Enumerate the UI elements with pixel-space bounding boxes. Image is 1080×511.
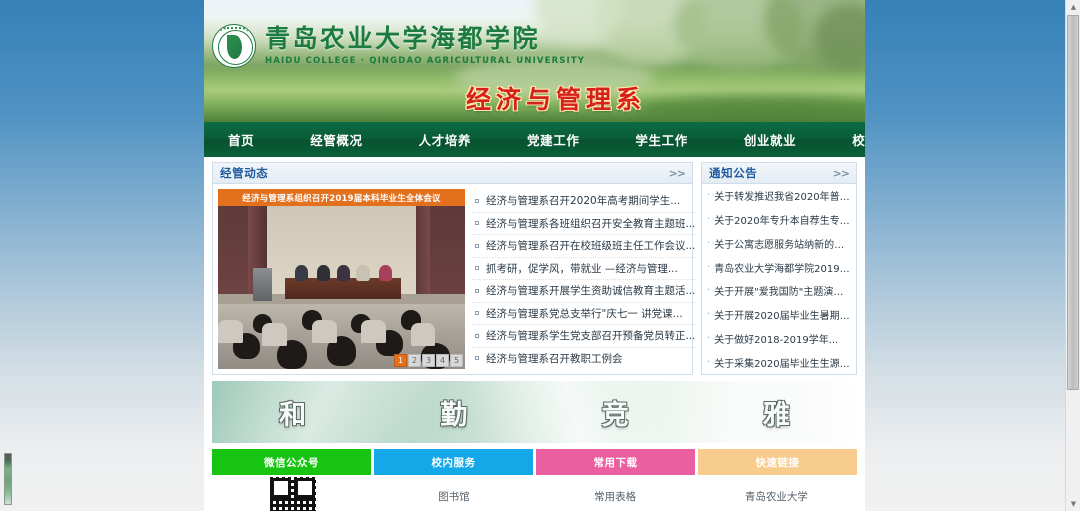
news-panel: 经管动态 >> 经济与管理系组织召开2019届本科毕业生全体会议	[212, 162, 693, 375]
notice-list-item[interactable]: · 关于开展2020届毕业生暑期留...	[707, 303, 851, 327]
notice-list-item[interactable]: · 关于2020年专升本自荐生专业...	[707, 208, 851, 232]
qr-code-cell	[212, 475, 373, 511]
news-item-title: 经济与管理系党总支举行"庆七一 讲党课...	[486, 306, 683, 321]
news-panel-body: 经济与管理系组织召开2019届本科毕业生全体会议	[213, 184, 692, 374]
dot-icon: ·	[707, 262, 710, 273]
nav-item-talent[interactable]: 人才培养	[413, 130, 477, 149]
news-list-item[interactable]: 抓考研，促学风，带就业 —经济与管理...	[472, 258, 696, 281]
school-name-cn: 青岛农业大学海都学院	[265, 26, 585, 52]
left-edge-scrollbar[interactable]	[4, 453, 12, 505]
motto-banner: 和 勤 竞 雅	[212, 381, 857, 443]
carousel-page-5[interactable]: 5	[450, 354, 463, 367]
notice-panel-header: 通知公告 >>	[702, 163, 856, 184]
nav-item-overview[interactable]: 经管概况	[304, 130, 368, 149]
link-qau[interactable]: 青岛农业大学	[696, 475, 857, 511]
notice-item-title: 关于转发推迟我省2020年普通...	[714, 188, 851, 203]
news-panel-title: 经管动态	[220, 165, 268, 181]
notice-item-title: 关于开展2020届毕业生暑期留...	[714, 307, 851, 322]
emblem-ring-decor	[219, 27, 249, 35]
quick-access-tabs: 微信公众号 校内服务 常用下载 快速链接	[212, 449, 857, 475]
notice-item-title: 关于采集2020届毕业生生源信...	[714, 355, 851, 370]
news-item-title: 经济与管理系学生党支部召开预备党员转正...	[486, 328, 696, 343]
notice-item-title: 关于做好2018-2019学年...	[714, 331, 838, 346]
department-title: 经济与管理系	[466, 80, 646, 116]
motto-char-2: 勤	[373, 393, 534, 432]
nav-item-party[interactable]: 党建工作	[521, 130, 585, 149]
dot-icon: ·	[707, 309, 710, 320]
news-list-item[interactable]: 经济与管理系学生党支部召开预备党员转正...	[472, 325, 696, 348]
news-list-item[interactable]: 经济与管理系各班组织召开安全教育主题班...	[472, 213, 696, 236]
bullet-icon	[475, 356, 479, 360]
news-item-title: 经济与管理系召开2020年高考期间学生...	[486, 193, 680, 208]
notice-list-item[interactable]: · 关于转发推迟我省2020年普通...	[707, 184, 851, 208]
notice-more-link[interactable]: >>	[833, 167, 849, 180]
carousel-caption: 经济与管理系组织召开2019届本科毕业生全体会议	[218, 189, 465, 206]
bullet-icon	[475, 289, 479, 293]
scrollbar-thumb[interactable]	[1067, 15, 1079, 390]
carousel-pagination[interactable]: 1 2 3 4 5	[394, 354, 463, 367]
wechat-qr-code-icon	[270, 477, 316, 511]
news-carousel[interactable]: 经济与管理系组织召开2019届本科毕业生全体会议	[218, 189, 465, 369]
tab-campus-services[interactable]: 校内服务	[374, 449, 533, 475]
site-logo-block[interactable]: 青岛农业大学海都学院 HAIDU COLLEGE · QINGDAO AGRIC…	[212, 24, 585, 68]
news-more-link[interactable]: >>	[669, 167, 685, 180]
nav-item-students[interactable]: 学生工作	[629, 130, 693, 149]
university-emblem-icon	[212, 24, 256, 68]
notice-list-item[interactable]: · 关于公寓志愿服务站纳新的通知	[707, 232, 851, 256]
scroll-up-arrow-icon[interactable]: ▲	[1066, 0, 1080, 14]
school-name-en: HAIDU COLLEGE · QINGDAO AGRICULTURAL UNI…	[265, 56, 585, 66]
news-item-title: 经济与管理系召开教职工例会	[486, 351, 623, 366]
tab-quick-links[interactable]: 快速链接	[698, 449, 857, 475]
notice-item-title: 关于开展"爱我国防"主题演讲比...	[714, 283, 851, 298]
main-navigation: 首页 经管概况 人才培养 党建工作 学生工作 创业就业 校友相连	[204, 122, 865, 157]
scroll-down-arrow-icon[interactable]: ▼	[1066, 497, 1080, 511]
notice-list: · 关于转发推迟我省2020年普通... · 关于2020年专升本自荐生专业..…	[702, 184, 856, 374]
news-item-title: 抓考研，促学风，带就业 —经济与管理...	[486, 261, 678, 276]
browser-vertical-scrollbar[interactable]: ▲ ▼	[1065, 0, 1080, 511]
bullet-icon	[475, 311, 479, 315]
notice-item-title: 青岛农业大学海都学院2019年...	[714, 260, 851, 275]
carousel-page-3[interactable]: 3	[422, 354, 435, 367]
news-panel-header: 经管动态 >>	[213, 163, 692, 184]
motto-char-4: 雅	[696, 393, 857, 432]
news-list-item[interactable]: 经济与管理系召开2020年高考期间学生...	[472, 190, 696, 213]
tab-common-downloads[interactable]: 常用下载	[536, 449, 695, 475]
link-library[interactable]: 图书馆	[373, 475, 534, 511]
link-common-forms[interactable]: 常用表格	[535, 475, 696, 511]
notice-list-item[interactable]: · 关于采集2020届毕业生生源信...	[707, 350, 851, 374]
nav-item-home[interactable]: 首页	[222, 130, 260, 149]
dot-icon: ·	[707, 357, 710, 368]
site-header-banner: 青岛农业大学海都学院 HAIDU COLLEGE · QINGDAO AGRIC…	[204, 0, 865, 122]
nav-item-careers[interactable]: 创业就业	[738, 130, 802, 149]
motto-char-3: 竞	[535, 393, 696, 432]
page-canvas: 青岛农业大学海都学院 HAIDU COLLEGE · QINGDAO AGRIC…	[204, 0, 865, 511]
dot-icon: ·	[707, 333, 710, 344]
bullet-icon	[475, 221, 479, 225]
carousel-page-2[interactable]: 2	[408, 354, 421, 367]
news-list: 经济与管理系召开2020年高考期间学生... 经济与管理系各班组织召开安全教育主…	[472, 189, 696, 369]
bullet-icon	[475, 199, 479, 203]
news-list-item[interactable]: 经济与管理系党总支举行"庆七一 讲党课...	[472, 303, 696, 326]
foliage-decor	[634, 96, 865, 122]
news-item-title: 经济与管理系各班组织召开安全教育主题班...	[486, 216, 696, 231]
news-list-item[interactable]: 经济与管理系召开教职工例会	[472, 348, 696, 370]
notice-list-item[interactable]: · 青岛农业大学海都学院2019年...	[707, 255, 851, 279]
dot-icon: ·	[707, 238, 710, 249]
news-item-title: 经济与管理系召开在校班级班主任工作会议...	[486, 238, 696, 253]
carousel-photo	[218, 206, 465, 369]
dot-icon: ·	[707, 214, 710, 225]
bullet-icon	[475, 334, 479, 338]
tab-wechat-official[interactable]: 微信公众号	[212, 449, 371, 475]
motto-char-1: 和	[212, 393, 373, 432]
notice-list-item[interactable]: · 关于开展"爱我国防"主题演讲比...	[707, 279, 851, 303]
notice-item-title: 关于公寓志愿服务站纳新的通知	[714, 236, 851, 251]
content-row: 经管动态 >> 经济与管理系组织召开2019届本科毕业生全体会议	[204, 157, 865, 375]
notice-list-item[interactable]: · 关于做好2018-2019学年...	[707, 327, 851, 351]
bullet-icon	[475, 266, 479, 270]
news-list-item[interactable]: 经济与管理系开展学生资助诚信教育主题活...	[472, 280, 696, 303]
school-name-block: 青岛农业大学海都学院 HAIDU COLLEGE · QINGDAO AGRIC…	[265, 26, 585, 65]
carousel-page-1[interactable]: 1	[394, 354, 407, 367]
carousel-page-4[interactable]: 4	[436, 354, 449, 367]
dot-icon: ·	[707, 190, 710, 201]
news-item-title: 经济与管理系开展学生资助诚信教育主题活...	[486, 283, 696, 298]
news-list-item[interactable]: 经济与管理系召开在校班级班主任工作会议...	[472, 235, 696, 258]
notice-item-title: 关于2020年专升本自荐生专业...	[714, 212, 851, 227]
nav-item-alumni[interactable]: 校友相连	[846, 130, 865, 149]
notice-panel: 通知公告 >> · 关于转发推迟我省2020年普通... · 关于2020年专升…	[701, 162, 857, 375]
bullet-icon	[475, 244, 479, 248]
notice-panel-title: 通知公告	[709, 165, 757, 181]
dot-icon: ·	[707, 285, 710, 296]
quick-access-content: 图书馆 常用表格 青岛农业大学	[212, 475, 857, 511]
